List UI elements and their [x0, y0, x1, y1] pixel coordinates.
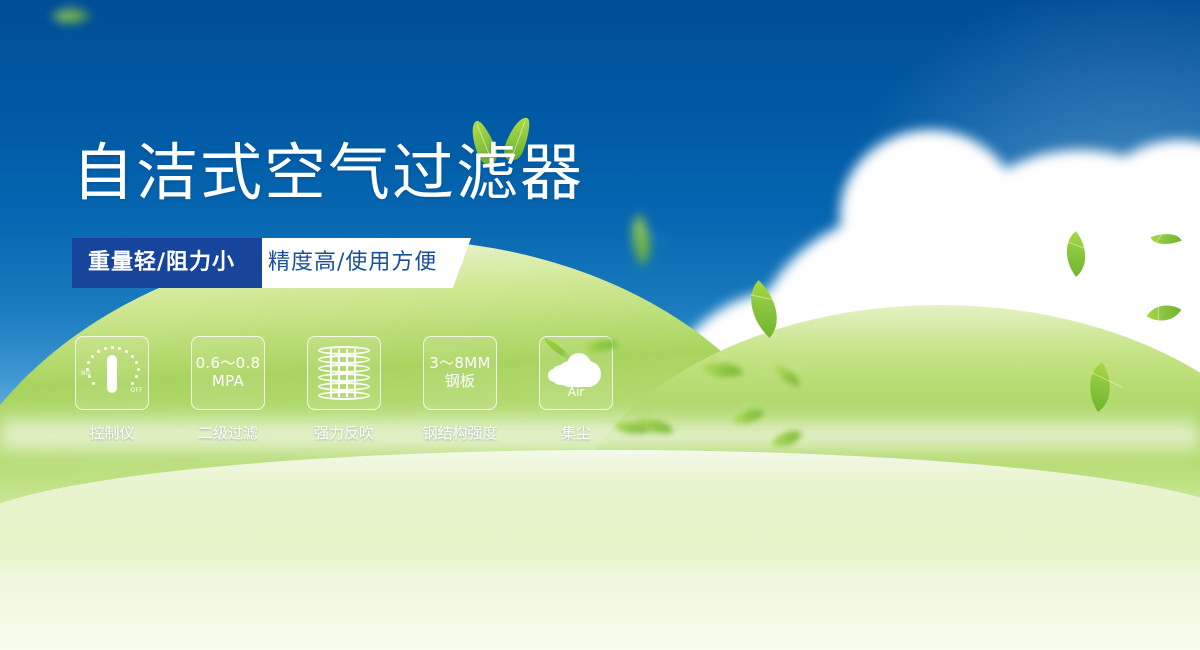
product-banner: 自洁式空气过滤器 重量轻/阻力小 精度高/使用方便	[0, 0, 1200, 650]
feature-caption: 控制仪	[89, 422, 134, 443]
gauge-label-no: NO	[81, 370, 91, 377]
feature-tile: NO OFF	[75, 336, 149, 410]
air-label: Air	[547, 385, 605, 399]
steel-thickness: 3～8MM	[429, 355, 490, 373]
gauge-label-off: OFF	[130, 387, 143, 394]
feature-tile	[307, 336, 381, 410]
feature-caption: 强力反吹	[314, 422, 374, 443]
feature-item-secondary-filter[interactable]: 0.6～0.8 MPA 二级过滤	[190, 336, 266, 443]
feature-caption: 集尘	[561, 422, 591, 443]
steel-material: 钢板	[429, 373, 490, 391]
pressure-unit: MPA	[196, 373, 261, 391]
pressure-text-icon: 0.6～0.8 MPA	[196, 355, 261, 390]
feature-item-dust-collection[interactable]: Air 集尘	[538, 336, 614, 443]
gauge-icon: NO OFF	[82, 344, 142, 402]
cloud-air-icon: Air	[547, 347, 605, 399]
feature-tile: 0.6～0.8 MPA	[191, 336, 265, 410]
floating-leaf	[615, 416, 650, 439]
banner-content: 自洁式空气过滤器 重量轻/阻力小 精度高/使用方便	[0, 0, 1200, 650]
subtitle-primary-panel: 重量轻/阻力小	[72, 238, 262, 288]
subtitle-primary-text: 重量轻/阻力小	[88, 238, 235, 288]
feature-item-controller[interactable]: NO OFF 控制仪	[74, 336, 150, 443]
feature-tile: 3～8MM 钢板	[423, 336, 497, 410]
page-title: 自洁式空气过滤器	[72, 142, 584, 204]
filter-stack-icon	[318, 346, 370, 400]
feature-caption: 钢结构强度	[422, 422, 497, 443]
feature-item-steel-strength[interactable]: 3～8MM 钢板 钢结构强度	[422, 336, 498, 443]
feature-list: NO OFF 控制仪 0.6～0.8 MPA 二级过滤	[74, 336, 614, 443]
pressure-value: 0.6～0.8	[196, 355, 261, 373]
steel-plate-text-icon: 3～8MM 钢板	[429, 355, 490, 390]
subtitle-secondary-text: 精度高/使用方便	[268, 238, 437, 288]
feature-item-blowback[interactable]: 强力反吹	[306, 336, 382, 443]
feature-caption: 二级过滤	[198, 422, 258, 443]
